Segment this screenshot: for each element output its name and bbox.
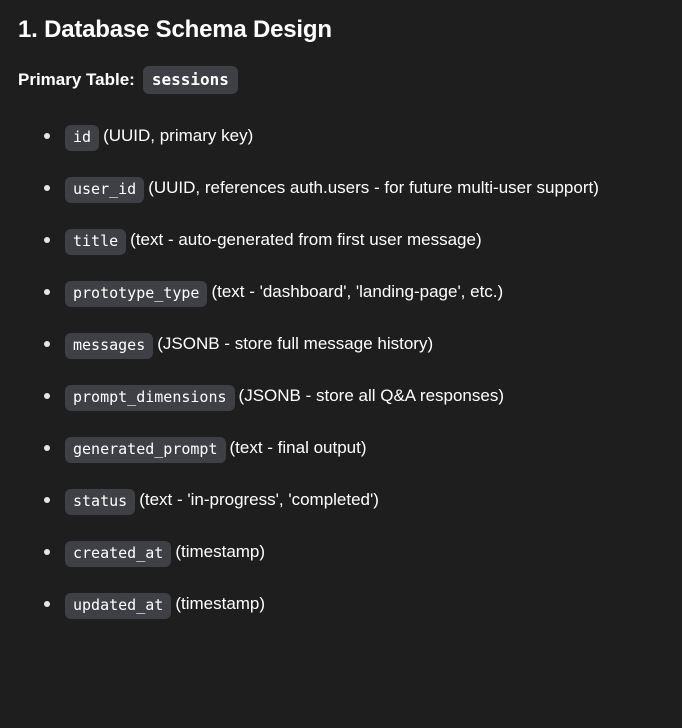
field-name-chip: generated_prompt <box>65 437 226 463</box>
field-description: (JSONB - store full message history) <box>157 334 433 353</box>
field-description: (JSONB - store all Q&A responses) <box>239 386 504 405</box>
field-name-chip: user_id <box>65 177 144 203</box>
field-description: (text - auto-generated from first user m… <box>130 230 481 249</box>
list-item: status(text - 'in-progress', 'completed'… <box>18 480 666 519</box>
primary-table-row: Primary Table: sessions <box>18 66 666 94</box>
list-item: updated_at(timestamp) <box>18 584 666 623</box>
list-item: generated_prompt(text - final output) <box>18 428 666 467</box>
field-description: (text - 'in-progress', 'completed') <box>139 490 379 509</box>
field-description: (text - final output) <box>230 438 367 457</box>
field-name-chip: created_at <box>65 541 171 567</box>
list-item: prompt_dimensions(JSONB - store all Q&A … <box>18 376 666 415</box>
field-name-chip: title <box>65 229 126 255</box>
field-description: (UUID, primary key) <box>103 126 253 145</box>
list-item: created_at(timestamp) <box>18 532 666 571</box>
field-description: (timestamp) <box>175 594 265 613</box>
field-name-chip: prompt_dimensions <box>65 385 235 411</box>
primary-table-name-chip: sessions <box>143 66 238 94</box>
page-title: 1. Database Schema Design <box>18 14 666 46</box>
field-name-chip: prototype_type <box>65 281 207 307</box>
field-name-chip: updated_at <box>65 593 171 619</box>
list-item: id(UUID, primary key) <box>18 116 666 155</box>
list-item: user_id(UUID, references auth.users - fo… <box>18 168 666 207</box>
field-description: (text - 'dashboard', 'landing-page', etc… <box>211 282 503 301</box>
list-item: messages(JSONB - store full message hist… <box>18 324 666 363</box>
list-item: title(text - auto-generated from first u… <box>18 220 666 259</box>
field-description: (UUID, references auth.users - for futur… <box>148 178 599 197</box>
primary-table-label: Primary Table: <box>18 67 135 93</box>
document-body: 1. Database Schema Design Primary Table:… <box>0 0 682 728</box>
schema-field-list: id(UUID, primary key) user_id(UUID, refe… <box>18 116 666 623</box>
field-name-chip: messages <box>65 333 153 359</box>
field-name-chip: status <box>65 489 135 515</box>
field-name-chip: id <box>65 125 99 151</box>
field-description: (timestamp) <box>175 542 265 561</box>
list-item: prototype_type(text - 'dashboard', 'land… <box>18 272 666 311</box>
